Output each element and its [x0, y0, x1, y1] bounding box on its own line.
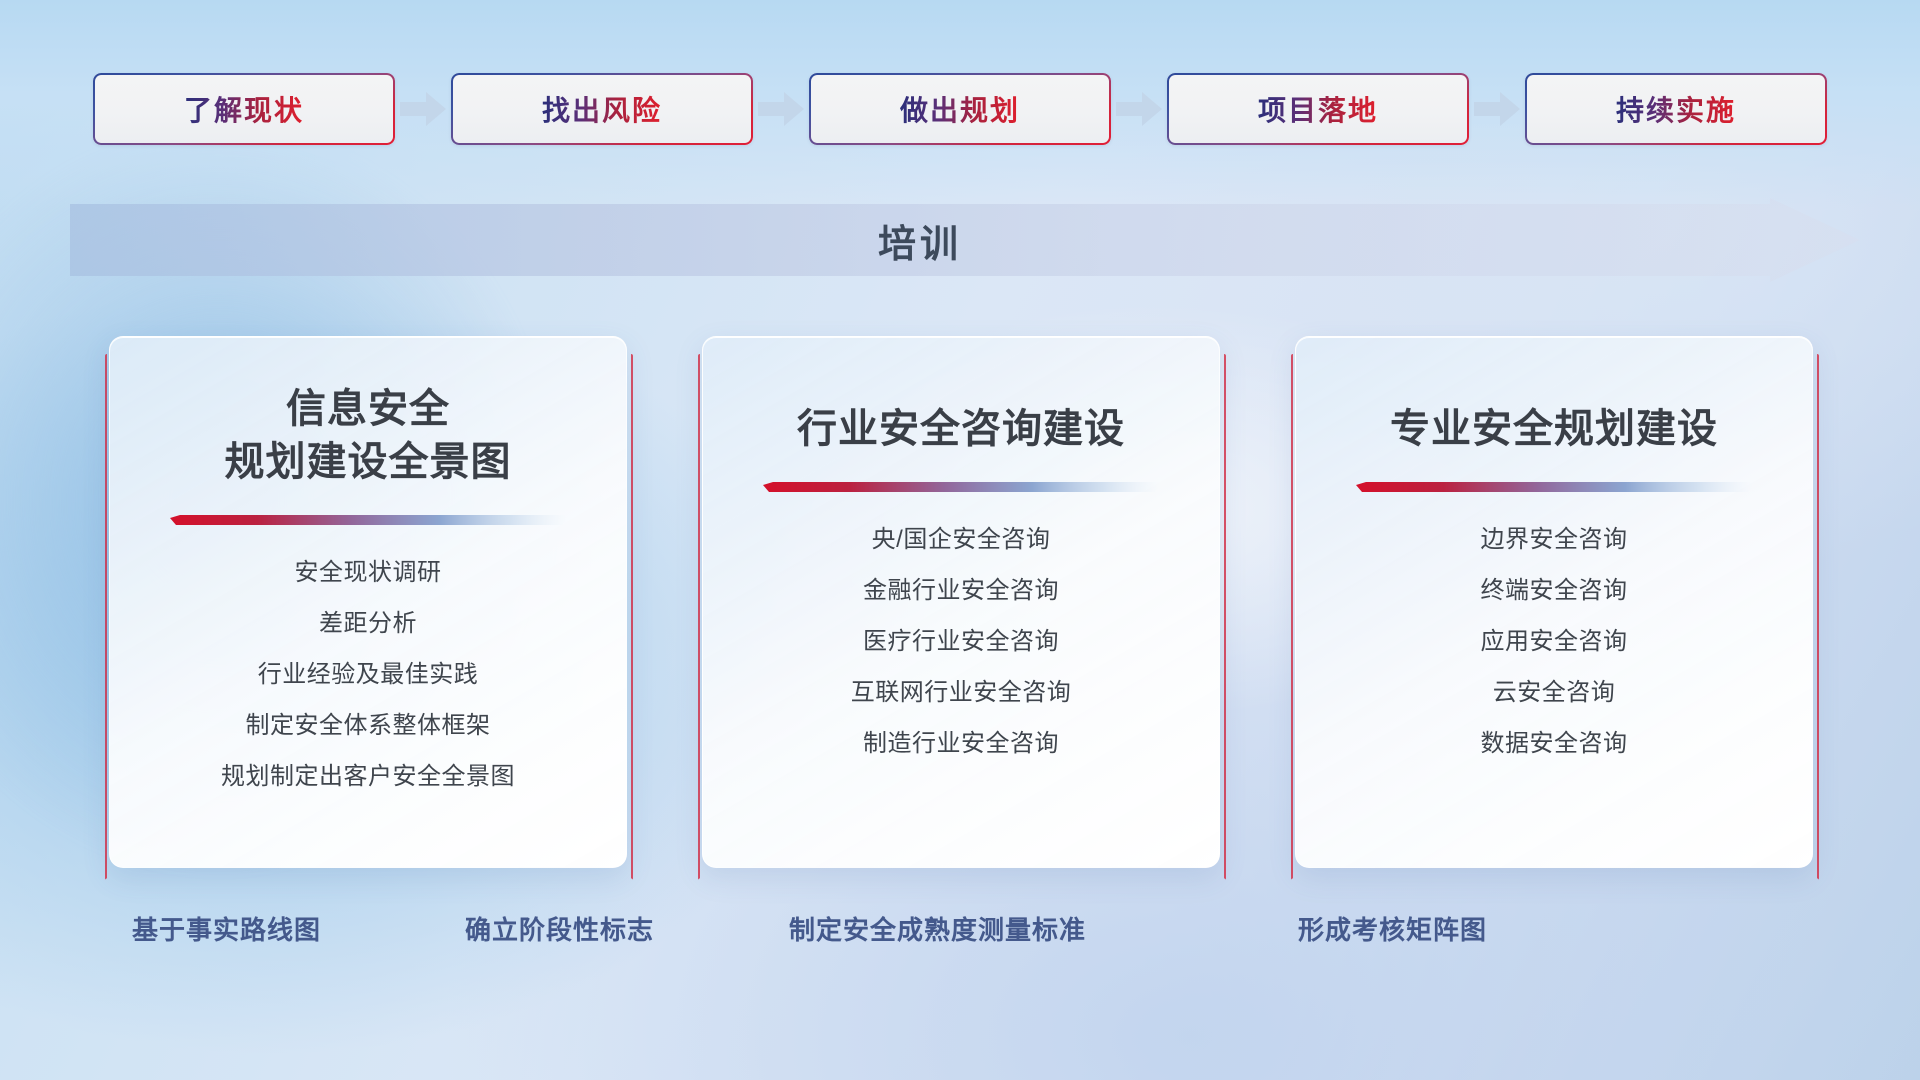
list-item: 制定安全体系整体框架 — [110, 714, 626, 738]
list-item: 规划制定出客户安全全景图 — [110, 765, 626, 789]
card-title-1-line-2: 规划建设全景图 — [110, 436, 626, 489]
training-banner: 培训 — [70, 198, 1860, 282]
list-item: 互联网行业安全咨询 — [703, 681, 1219, 705]
list-item: 央/国企安全咨询 — [703, 528, 1219, 552]
step-label-5: 持续实施 — [1616, 89, 1736, 129]
caption-row: 基于事实路线图 确立阶段性标志 制定安全成熟度测量标准 形成考核矩阵图 — [0, 910, 1920, 970]
list-item: 安全现状调研 — [110, 561, 626, 585]
card-2[interactable]: 行业安全咨询建设 央/国企安全咨询 金融行业安全咨询 — [702, 336, 1220, 868]
card-wrapper-1: 信息安全 规划建设全景图 安全现状调研 差 — [102, 336, 632, 876]
card-list-2: 央/国企安全咨询 金融行业安全咨询 医疗行业安全咨询 互联网行业安全咨询 制造行… — [703, 528, 1219, 756]
card-wrapper-2: 行业安全咨询建设 央/国企安全咨询 金融行业安全咨询 — [695, 336, 1225, 876]
card-title-1: 信息安全 规划建设全景图 — [110, 383, 626, 489]
step-label-2: 找出风险 — [542, 89, 662, 129]
banner-title: 培训 — [25, 198, 1815, 282]
card-title-2-line-1: 行业安全咨询建设 — [703, 403, 1219, 456]
card-divider-icon-1 — [170, 515, 566, 531]
step-box-3[interactable]: 做出规划 — [809, 73, 1111, 145]
list-item: 数据安全咨询 — [1296, 732, 1812, 756]
step-arrow-icon-4 — [1469, 73, 1525, 145]
list-item: 行业经验及最佳实践 — [110, 663, 626, 687]
card-row: 信息安全 规划建设全景图 安全现状调研 差 — [0, 336, 1920, 876]
card-wrapper-3: 专业安全规划建设 边界安全咨询 终端安全咨询 — [1288, 336, 1818, 876]
card-title-2: 行业安全咨询建设 — [703, 403, 1219, 456]
card-title-3: 专业安全规划建设 — [1296, 403, 1812, 456]
list-item: 边界安全咨询 — [1296, 528, 1812, 552]
step-label-1: 了解现状 — [184, 89, 304, 129]
list-item: 医疗行业安全咨询 — [703, 630, 1219, 654]
list-item: 应用安全咨询 — [1296, 630, 1812, 654]
step-box-2[interactable]: 找出风险 — [451, 73, 753, 145]
card-divider-icon-2 — [763, 482, 1159, 498]
list-item: 云安全咨询 — [1296, 681, 1812, 705]
card-list-3: 边界安全咨询 终端安全咨询 应用安全咨询 云安全咨询 数据安全咨询 — [1296, 528, 1812, 756]
step-box-1[interactable]: 了解现状 — [93, 73, 395, 145]
list-item: 差距分析 — [110, 612, 626, 636]
caption-1: 基于事实路线图 — [132, 910, 321, 947]
caption-3: 制定安全成熟度测量标准 — [789, 910, 1086, 947]
card-1[interactable]: 信息安全 规划建设全景图 安全现状调研 差 — [109, 336, 627, 868]
step-arrow-icon-2 — [753, 73, 809, 145]
step-arrow-icon-3 — [1111, 73, 1167, 145]
step-box-4[interactable]: 项目落地 — [1167, 73, 1469, 145]
card-title-3-line-1: 专业安全规划建设 — [1296, 403, 1812, 456]
list-item: 终端安全咨询 — [1296, 579, 1812, 603]
caption-4: 形成考核矩阵图 — [1298, 910, 1487, 947]
card-divider-icon-3 — [1356, 482, 1752, 498]
step-label-3: 做出规划 — [900, 89, 1020, 129]
list-item: 制造行业安全咨询 — [703, 732, 1219, 756]
step-box-5[interactable]: 持续实施 — [1525, 73, 1827, 145]
caption-2: 确立阶段性标志 — [465, 910, 654, 947]
process-step-row: 了解现状 找出风险 做出规划 项目落地 持续实施 — [0, 68, 1920, 150]
card-list-1: 安全现状调研 差距分析 行业经验及最佳实践 制定安全体系整体框架 规划制定出客户… — [110, 561, 626, 789]
card-title-1-line-1: 信息安全 — [110, 383, 626, 436]
step-label-4: 项目落地 — [1258, 89, 1378, 129]
card-3[interactable]: 专业安全规划建设 边界安全咨询 终端安全咨询 — [1295, 336, 1813, 868]
list-item: 金融行业安全咨询 — [703, 579, 1219, 603]
step-arrow-icon-1 — [395, 73, 451, 145]
